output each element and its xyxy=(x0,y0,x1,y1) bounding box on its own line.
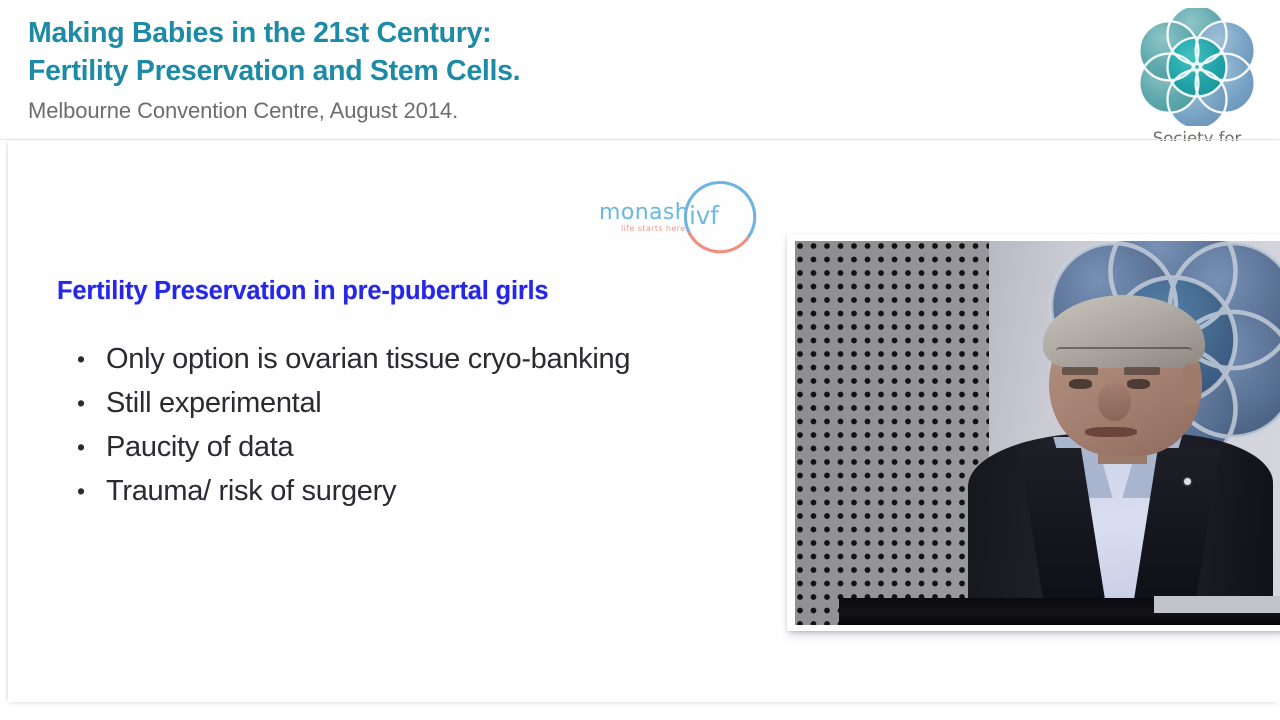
presentation-title-line-1: Making Babies in the 21st Century: xyxy=(28,14,1088,52)
speaker-eye-left xyxy=(1069,379,1092,389)
monash-tagline: life starts here xyxy=(621,224,686,233)
slide-heading: Fertility Preservation in pre-pubertal g… xyxy=(57,277,548,306)
page-header: Making Babies in the 21st Century: Ferti… xyxy=(0,0,1280,140)
monash-wordmark: monash xyxy=(599,200,689,225)
list-item: Trauma/ risk of surgery xyxy=(70,469,670,513)
speaker-mouth xyxy=(1085,427,1137,437)
speaker-eye-right xyxy=(1127,379,1150,389)
list-item: Only option is ovarian tissue cryo-banki… xyxy=(70,337,670,381)
presentation-title-line-2: Fertility Preservation and Stem Cells. xyxy=(28,52,1088,90)
monash-ivf-logo: monash life starts here ivf xyxy=(591,178,761,258)
speaker-lapel-pin xyxy=(1184,478,1191,485)
video-frame: ociety rodu iolo xyxy=(795,241,1280,625)
speaker-video-inset[interactable]: ociety rodu iolo xyxy=(787,234,1280,631)
list-item: Still experimental xyxy=(70,381,670,425)
speaker-person xyxy=(955,241,1280,625)
podium-edge xyxy=(1154,596,1280,613)
slide-canvas: monash life starts here ivf Fertility Pr… xyxy=(8,141,1280,702)
flower-of-life-icon xyxy=(1138,8,1256,126)
speaker-nose xyxy=(1098,383,1130,421)
presentation-viewer: Making Babies in the 21st Century: Ferti… xyxy=(0,0,1280,720)
header-divider xyxy=(0,139,1280,140)
slide-bullet-list: Only option is ovarian tissue cryo-banki… xyxy=(70,337,670,513)
monash-ivf-label: ivf xyxy=(689,201,719,230)
presentation-subtitle: Melbourne Convention Centre, August 2014… xyxy=(28,96,1088,126)
list-item: Paucity of data xyxy=(70,425,670,469)
title-block: Making Babies in the 21st Century: Ferti… xyxy=(28,14,1088,126)
speaker-glasses xyxy=(1056,347,1192,384)
